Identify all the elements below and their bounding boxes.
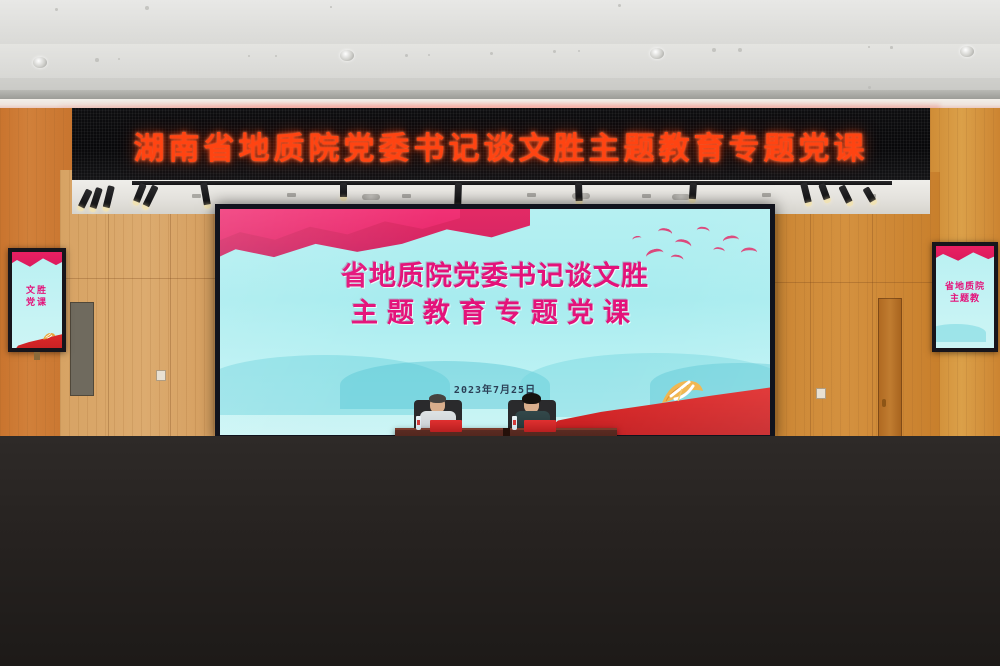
monitor-right-line2: 主题教 <box>950 294 980 304</box>
ceiling-speaker-grille <box>672 194 690 200</box>
bird-icon <box>632 235 642 243</box>
ceiling-pinhole-light <box>330 6 332 8</box>
truss-fixture <box>402 194 411 198</box>
ceiling-pinhole-light <box>868 86 871 89</box>
projection-screen-frame: 省地质院党委书记谈文胜 主题教育专题党课 2023年7月25日 <box>215 204 775 440</box>
led-banner: 湖南省地质院党委书记谈文胜主题教育专题党课 <box>72 108 930 182</box>
screen-title-line1: 省地质院党委书记谈文胜 <box>220 261 770 293</box>
speaker-water-bottle <box>512 416 517 430</box>
bird-icon <box>674 238 693 253</box>
wall-vent <box>70 302 94 396</box>
nameplate-left <box>430 420 462 432</box>
monitor-right-line1: 省地质院 <box>945 282 985 292</box>
screen-title-line2: 主题教育专题党课 <box>220 298 770 330</box>
lighting-track-rail <box>132 181 892 185</box>
ceiling-pinhole-light <box>248 55 250 57</box>
ceiling-speaker-grille <box>362 194 380 200</box>
wall-outlet <box>156 370 166 381</box>
monitor-flag-graphic <box>12 252 62 274</box>
speaker-hair <box>429 394 446 403</box>
ceiling-band <box>0 44 1000 78</box>
side-monitor-right-text: 省地质院 主题教 <box>936 281 994 305</box>
ceiling-downlight <box>340 50 354 61</box>
ceiling-pinhole-light <box>55 8 58 11</box>
wood-seam <box>60 278 230 279</box>
screen-title: 省地质院党委书记谈文胜 主题教育专题党课 <box>220 261 770 330</box>
side-monitor-left-text: 文胜 党课 <box>12 285 62 309</box>
monitor-left-mount <box>34 352 40 360</box>
ceiling-pinhole-light <box>275 55 277 57</box>
ceiling-downlight <box>33 57 47 68</box>
monitor-flag-graphic <box>936 246 994 268</box>
monitor-emblem-icon <box>41 329 56 340</box>
ceiling-pinhole-light <box>890 46 893 49</box>
projection-screen: 省地质院党委书记谈文胜 主题教育专题党课 2023年7月25日 <box>220 209 770 435</box>
side-monitor-left-screen: 文胜 党课 <box>12 252 62 348</box>
ceiling-downlight <box>650 48 664 59</box>
stage-spotlight <box>340 183 347 198</box>
bird-icon <box>713 246 725 255</box>
ceiling-edge <box>0 90 1000 99</box>
truss-fixture <box>762 193 771 197</box>
stage-spotlight <box>689 183 697 200</box>
speaker-water-bottle <box>416 416 421 430</box>
bird-icon <box>657 227 673 239</box>
monitor-mountain <box>936 324 986 342</box>
wood-seam <box>768 282 940 283</box>
speaker-hair <box>522 393 541 404</box>
side-monitor-right: 省地质院 主题教 <box>932 242 998 352</box>
monitor-left-line2: 党课 <box>26 298 48 308</box>
truss-fixture <box>192 194 201 198</box>
truss-fixture <box>642 194 651 198</box>
ceiling-pinhole-light <box>95 58 99 62</box>
bird-icon <box>722 235 740 248</box>
ceiling <box>0 0 1000 96</box>
monitor-left-line1: 文胜 <box>26 286 48 296</box>
bird-icon <box>696 226 710 236</box>
bird-icon <box>741 247 758 259</box>
side-monitor-right-screen: 省地质院 主题教 <box>936 246 994 348</box>
conference-hall-photo: 湖南省地质院党委书记谈文胜主题教育专题党课 文胜 党课 省地质院 主题教 <box>0 0 1000 666</box>
audience-seating <box>0 436 1000 666</box>
truss-fixture <box>527 193 536 197</box>
ceiling-pinhole-light <box>738 48 742 52</box>
nameplate-right <box>524 420 556 432</box>
stage-spotlight <box>575 183 583 202</box>
ceiling-downlight <box>960 46 974 57</box>
side-monitor-left: 文胜 党课 <box>8 248 66 352</box>
truss-fixture <box>287 193 296 197</box>
ceiling-pinhole-light <box>618 4 621 7</box>
cpc-emblem-icon <box>658 375 704 409</box>
ceiling-pinhole-light <box>712 48 716 52</box>
ceiling-pinhole-light <box>118 58 120 60</box>
ceiling-pinhole-light <box>145 6 149 10</box>
wall-outlet <box>816 388 826 399</box>
door-knob-icon[interactable] <box>882 399 886 407</box>
ceiling-pinhole-light <box>490 52 493 55</box>
ceiling-pinhole-light <box>868 46 870 48</box>
led-banner-text: 湖南省地质院党委书记谈文胜主题教育专题党课 <box>72 123 930 168</box>
